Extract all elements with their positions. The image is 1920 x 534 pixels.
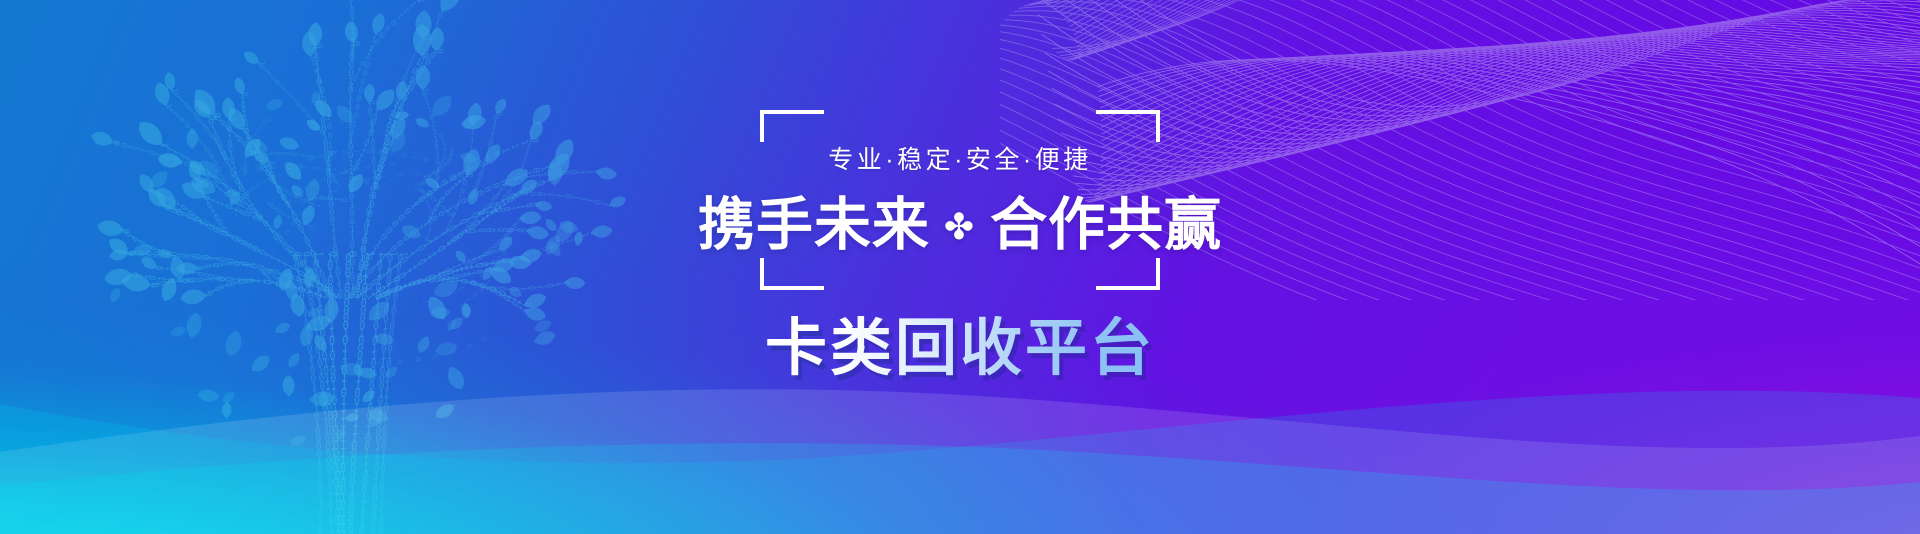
bottom-wave-icon <box>0 0 1920 534</box>
promo-banner: 1010101100001000010111100110110101000100… <box>0 0 1920 534</box>
